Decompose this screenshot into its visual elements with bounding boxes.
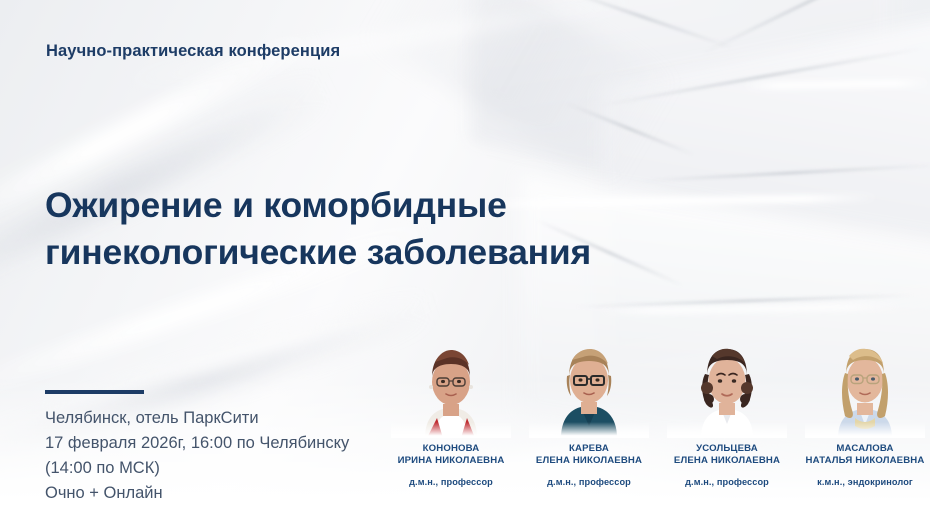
speaker-card: КОНОНОВА ИРИНА НИКОЛАЕВНА д.м.н., профес… <box>386 330 516 495</box>
portrait-masalova <box>805 330 925 438</box>
event-details: Челябинск, отель ПаркСити 17 февраля 202… <box>45 406 349 506</box>
speaker-credentials: д.м.н., профессор <box>409 477 493 487</box>
datetime-msk-line: (14:00 по МСК) <box>45 456 349 481</box>
speaker-surname: КАРЕВА <box>536 443 642 455</box>
speaker-credentials: д.м.н., профессор <box>685 477 769 487</box>
datetime-local-line: 17 февраля 2026г, 16:00 по Челябинску <box>45 431 349 456</box>
speaker-portrait <box>529 330 649 438</box>
portrait-usoltseva <box>667 330 787 438</box>
speaker-portrait <box>391 330 511 438</box>
speaker-card: УСОЛЬЦЕВА ЕЛЕНА НИКОЛАЕВНА д.м.н., профе… <box>662 330 792 495</box>
event-type-label: Научно-практическая конференция <box>46 42 340 61</box>
title-line-1: Ожирение и коморбидные <box>45 182 705 229</box>
title-line-2: гинекологические заболевания <box>45 229 705 276</box>
portrait-kareva <box>529 330 649 438</box>
format-line: Очно + Онлайн <box>45 481 349 506</box>
speakers-row: КОНОНОВА ИРИНА НИКОЛАЕВНА д.м.н., профес… <box>386 330 930 495</box>
accent-divider <box>45 390 144 394</box>
speaker-given-name: ЕЛЕНА НИКОЛАЕВНА <box>674 455 780 467</box>
speaker-portrait <box>667 330 787 438</box>
speaker-portrait <box>805 330 925 438</box>
portrait-kononova <box>391 330 511 438</box>
speaker-name: УСОЛЬЦЕВА ЕЛЕНА НИКОЛАЕВНА <box>674 443 780 468</box>
speaker-surname: МАСАЛОВА <box>806 443 925 455</box>
speaker-surname: КОНОНОВА <box>398 443 505 455</box>
speaker-card: МАСАЛОВА НАТАЛЬЯ НИКОЛАЕВНА к.м.н., эндо… <box>800 330 930 495</box>
page-title: Ожирение и коморбидные гинекологические … <box>45 182 705 276</box>
speaker-name: КОНОНОВА ИРИНА НИКОЛАЕВНА <box>398 443 505 468</box>
speaker-given-name: ИРИНА НИКОЛАЕВНА <box>398 455 505 467</box>
speaker-credentials: к.м.н., эндокринолог <box>817 477 913 487</box>
conference-poster: Научно-практическая конференция Ожирение… <box>0 0 930 528</box>
speaker-surname: УСОЛЬЦЕВА <box>674 443 780 455</box>
speaker-name: МАСАЛОВА НАТАЛЬЯ НИКОЛАЕВНА <box>806 443 925 468</box>
venue-line: Челябинск, отель ПаркСити <box>45 406 349 431</box>
speaker-name: КАРЕВА ЕЛЕНА НИКОЛАЕВНА <box>536 443 642 468</box>
speaker-credentials: д.м.н., профессор <box>547 477 631 487</box>
speaker-given-name: НАТАЛЬЯ НИКОЛАЕВНА <box>806 455 925 467</box>
speaker-card: КАРЕВА ЕЛЕНА НИКОЛАЕВНА д.м.н., профессо… <box>524 330 654 495</box>
speaker-given-name: ЕЛЕНА НИКОЛАЕВНА <box>536 455 642 467</box>
